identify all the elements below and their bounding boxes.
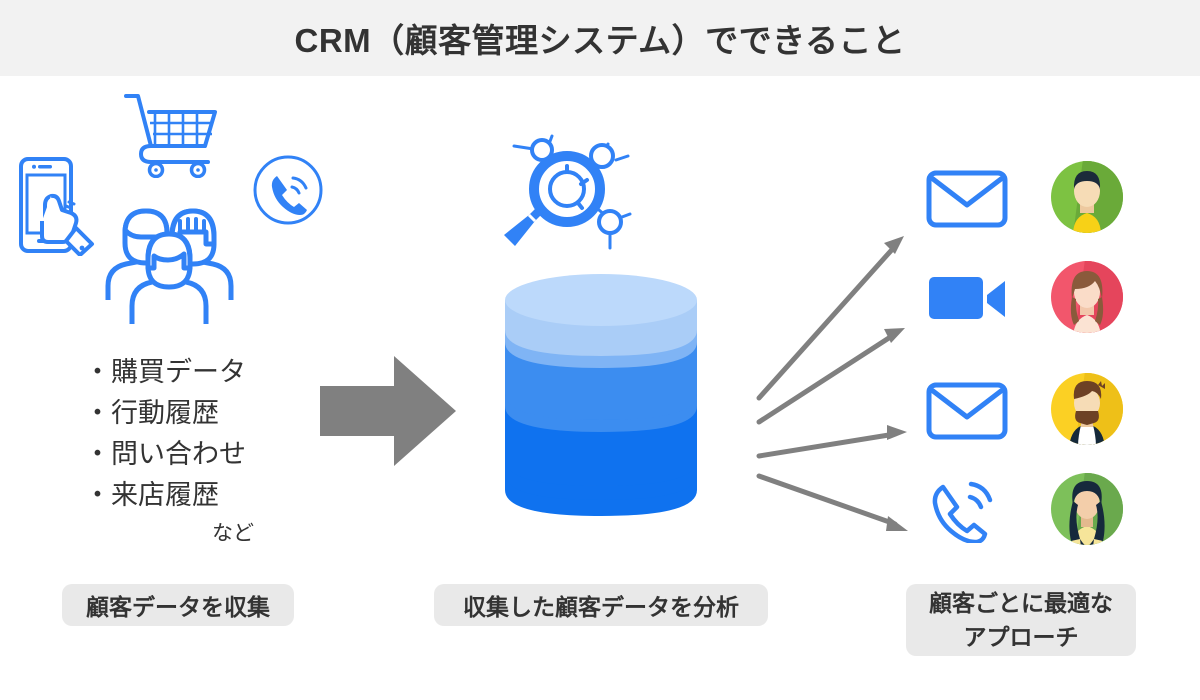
avatar (1049, 259, 1125, 335)
list-etc-label: など (128, 516, 338, 552)
list-item: ・問い合わせ (84, 434, 334, 475)
distribution-arrows (745, 216, 920, 536)
status-badge-approach: 顧客ごとに最適な アプローチ (906, 584, 1136, 656)
list-item (925, 466, 1125, 552)
magnifier-network-icon (490, 124, 640, 264)
process-arrow-icon (320, 356, 456, 466)
avatar (1049, 159, 1125, 235)
shopping-cart-icon (122, 90, 228, 178)
diagram-stage: ・購買データ ・行動履歴 ・問い合わせ ・来店履歴 など (0, 76, 1200, 700)
list-item: ・購買データ (84, 352, 334, 393)
list-item (925, 366, 1125, 452)
video-camera-icon (925, 263, 1009, 331)
list-item (925, 254, 1125, 340)
status-badge-analyze: 収集した顧客データを分析 (434, 584, 768, 626)
list-item (925, 154, 1125, 240)
status-badge-approach-line2: アプローチ (964, 620, 1079, 654)
avatar (1049, 471, 1125, 547)
status-badge-collect: 顧客データを収集 (62, 584, 294, 626)
list-item: ・来店履歴 (84, 475, 334, 516)
data-source-icons (0, 76, 340, 336)
people-group-icon (92, 188, 246, 328)
envelope-outline-icon (925, 375, 1009, 443)
database-cylinder (503, 272, 699, 534)
status-badge-approach-line1: 顧客ごとに最適な (929, 586, 1113, 620)
approach-channel-list (925, 154, 1125, 574)
list-item: ・行動履歴 (84, 393, 334, 434)
page-title: CRM（顧客管理システム）でできること (0, 0, 1200, 76)
envelope-outline-icon (925, 163, 1009, 231)
data-source-list: ・購買データ ・行動履歴 ・問い合わせ ・来店履歴 など (84, 352, 334, 552)
phone-ringing-outline-icon (925, 475, 1009, 543)
phone-call-circle-icon (252, 154, 324, 226)
avatar (1049, 371, 1125, 447)
